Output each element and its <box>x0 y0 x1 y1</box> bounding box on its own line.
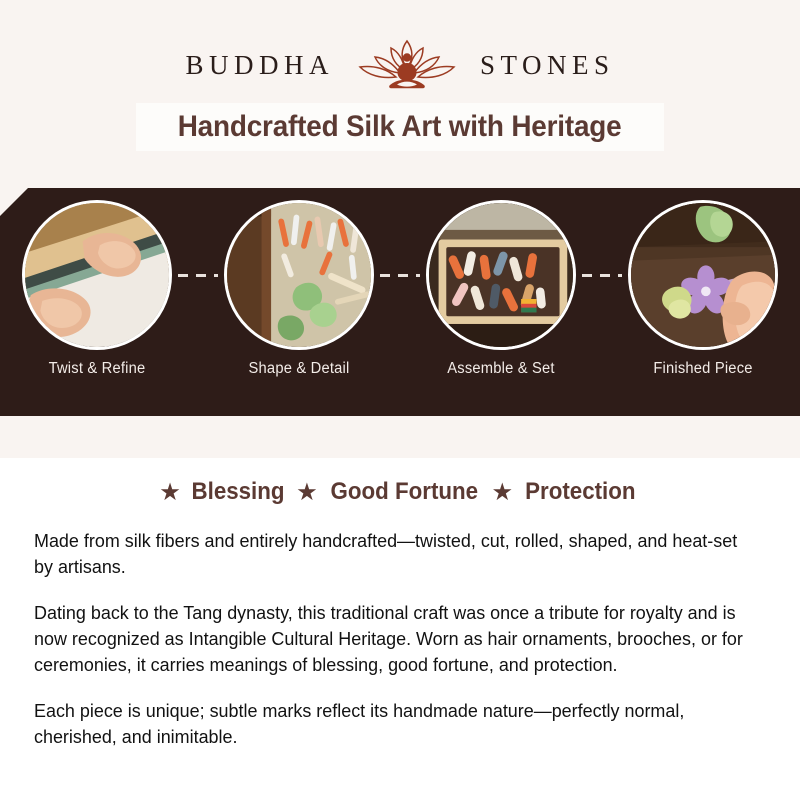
star-icon-3: ★ <box>493 482 512 503</box>
step-connector-2 <box>380 274 420 277</box>
brand-word-right: STONES <box>480 52 615 79</box>
step-label-1: Twist & Refine <box>26 360 169 378</box>
step-label-4: Finished Piece <box>632 360 775 378</box>
page-title: Handcrafted Silk Art with Heritage <box>178 110 622 144</box>
benefit-good-fortune: Good Fortune <box>331 478 479 506</box>
step-label-2: Shape & Detail <box>228 360 371 378</box>
product-info-card: BUDDHA <box>0 0 800 800</box>
step-image-shape-detail <box>224 200 374 350</box>
star-icon-2: ★ <box>297 482 316 503</box>
paragraph-uniqueness: Each piece is unique; subtle marks refle… <box>34 698 756 750</box>
process-step-3 <box>426 200 576 350</box>
section-divider-strip <box>0 416 800 458</box>
header-section: BUDDHA <box>0 0 800 188</box>
step-connector-3 <box>582 274 622 277</box>
benefit-protection: Protection <box>525 478 635 506</box>
paragraph-materials: Made from silk fibers and entirely handc… <box>34 528 756 580</box>
step-image-twist-refine <box>22 200 172 350</box>
benefits-row: ★ Blessing ★ Good Fortune ★ Protection <box>0 478 800 506</box>
process-band: Twist & Refine Shape & Detail Assemble &… <box>0 188 800 416</box>
process-step-labels: Twist & Refine Shape & Detail Assemble &… <box>22 360 778 378</box>
lotus-meditation-icon <box>348 35 466 95</box>
brand-word-left: BUDDHA <box>185 52 334 79</box>
description-copy: Made from silk fibers and entirely handc… <box>34 528 778 750</box>
benefit-blessing: Blessing <box>192 478 285 506</box>
step-image-assemble-set <box>426 200 576 350</box>
paragraph-heritage: Dating back to the Tang dynasty, this tr… <box>34 600 756 678</box>
process-step-1 <box>22 200 172 350</box>
process-step-4 <box>628 200 778 350</box>
process-step-2 <box>224 200 374 350</box>
star-icon-1: ★ <box>161 482 180 503</box>
brand-logo: BUDDHA <box>0 36 800 94</box>
title-banner: Handcrafted Silk Art with Heritage <box>136 103 664 151</box>
step-image-finished-piece <box>628 200 778 350</box>
process-steps <box>22 200 778 350</box>
step-label-3: Assemble & Set <box>430 360 573 378</box>
step-connector-1 <box>178 274 218 277</box>
